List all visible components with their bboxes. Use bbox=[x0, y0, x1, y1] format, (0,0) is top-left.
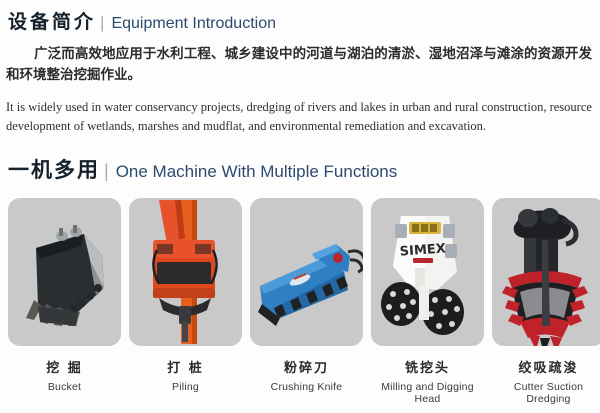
product-item[interactable]: 挖 掘 Bucket bbox=[8, 198, 121, 405]
section-heading-equipment-introduction: 设备简介 | Equipment Introduction bbox=[0, 7, 600, 34]
product-card-row: 挖 掘 Bucket bbox=[0, 198, 600, 405]
product-image-card[interactable] bbox=[492, 198, 600, 346]
milling-head-icon: SIMEX bbox=[371, 198, 484, 346]
product-caption: 挖 掘 Bucket bbox=[8, 357, 121, 393]
heading-chinese-equipment: 设备简介 bbox=[8, 7, 96, 34]
product-label-chinese: 挖 掘 bbox=[8, 357, 121, 376]
product-image-card[interactable] bbox=[250, 198, 363, 346]
product-label-chinese: 铣挖头 bbox=[371, 357, 484, 376]
heading-english-equipment: Equipment Introduction bbox=[111, 15, 276, 33]
product-caption: 铣挖头 Milling and Digging Head bbox=[371, 357, 484, 405]
product-item[interactable]: 打 桩 Piling bbox=[129, 198, 242, 405]
product-image-card[interactable]: SIMEX bbox=[371, 198, 484, 346]
excavator-bucket-icon bbox=[8, 198, 121, 346]
product-label-chinese: 粉碎刀 bbox=[250, 357, 363, 376]
mulcher-drum-icon bbox=[250, 198, 363, 346]
product-label-english: Crushing Knife bbox=[250, 381, 363, 393]
product-caption: 粉碎刀 Crushing Knife bbox=[250, 357, 363, 393]
product-caption: 打 桩 Piling bbox=[129, 357, 242, 393]
heading-separator: | bbox=[100, 13, 104, 33]
product-caption: 绞吸疏浚 Cutter Suction Dredging bbox=[492, 357, 600, 405]
paragraph-chinese-equipment: 广泛而高效地应用于水利工程、城乡建设中的河道与湖泊的清淤、湿地沼泽与滩涂的资源开… bbox=[6, 44, 592, 86]
product-item[interactable]: 绞吸疏浚 Cutter Suction Dredging bbox=[492, 198, 600, 405]
heading-chinese-functions: 一机多用 bbox=[8, 154, 100, 184]
svg-text:SIMEX: SIMEX bbox=[399, 241, 446, 259]
product-item[interactable]: SIMEX bbox=[371, 198, 484, 405]
product-label-chinese: 绞吸疏浚 bbox=[492, 357, 600, 376]
product-item[interactable]: 粉碎刀 Crushing Knife bbox=[250, 198, 363, 405]
product-image-card[interactable] bbox=[129, 198, 242, 346]
heading-english-functions: One Machine With Multiple Functions bbox=[116, 162, 398, 182]
section-heading-multiple-functions: 一机多用 | One Machine With Multiple Functio… bbox=[0, 154, 600, 184]
product-label-english: Milling and Digging Head bbox=[371, 381, 484, 405]
cutter-suction-head-icon bbox=[492, 198, 600, 346]
product-image-card[interactable] bbox=[8, 198, 121, 346]
pile-driver-icon bbox=[129, 198, 242, 346]
product-label-english: Piling bbox=[129, 381, 242, 393]
product-label-english: Cutter Suction Dredging bbox=[492, 381, 600, 405]
product-label-english: Bucket bbox=[8, 381, 121, 393]
product-label-chinese: 打 桩 bbox=[129, 357, 242, 376]
heading-separator: | bbox=[104, 161, 109, 182]
paragraph-english-equipment: It is widely used in water conservancy p… bbox=[6, 98, 592, 136]
